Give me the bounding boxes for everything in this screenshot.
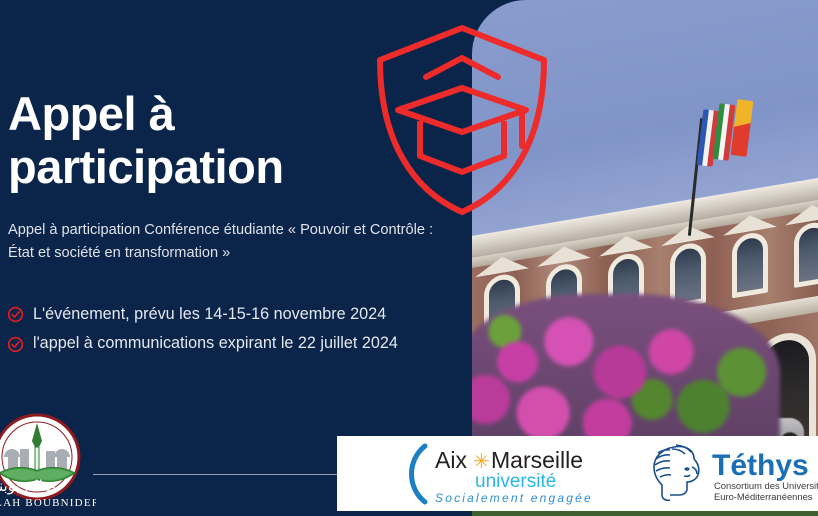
salah-boubnider-university-emblem: صالح بوبنيدر ALAH BOUBNIDER <box>0 411 96 511</box>
list-item-label: L'événement, prévu les 14-15-16 novembre… <box>33 305 386 324</box>
page-title: Appel à participation <box>8 88 428 193</box>
amu-arc-icon <box>412 446 426 502</box>
list-item: L'événement, prévu les 14-15-16 novembre… <box>7 305 457 324</box>
amu-subname: université <box>475 471 556 492</box>
amu-tagline: Socialement engagée <box>435 491 593 505</box>
tethys-logo: Téthys Consortium des Universités Euro-M… <box>642 443 818 505</box>
bullet-list: L'événement, prévu les 14-15-16 novembre… <box>7 305 457 364</box>
partner-logo-bar: Aix ✳ Marseille université Socialement e… <box>337 436 818 511</box>
emblem-arabic-text: صالح بوبنيدر <box>0 477 56 495</box>
list-item-label: l'appel à communications expirant le 22 … <box>33 334 398 353</box>
horizontal-divider <box>93 474 337 475</box>
emblem-latin-text: ALAH BOUBNIDER <box>0 497 96 509</box>
amu-name-part1: Aix <box>435 447 467 473</box>
check-circle-icon <box>7 306 24 323</box>
classical-head-profile-icon <box>654 445 699 500</box>
poster-slide: Appel à participation Appel à participat… <box>0 0 818 516</box>
tethys-line2: Euro-Méditerranéennes <box>714 491 813 502</box>
tethys-name: Téthys <box>712 449 809 482</box>
check-circle-icon <box>7 336 24 353</box>
tethys-line1: Consortium des Universités <box>714 480 818 491</box>
title-line-2: participation <box>8 141 428 194</box>
amu-name-part2: Marseille <box>491 447 583 473</box>
aix-marseille-universite-logo: Aix ✳ Marseille université Socialement e… <box>399 442 614 506</box>
list-item: l'appel à communications expirant le 22 … <box>7 334 457 353</box>
amu-star-icon: ✳ <box>473 449 490 473</box>
subtitle: Appel à participation Conférence étudian… <box>8 219 438 264</box>
title-line-1: Appel à <box>8 88 428 141</box>
